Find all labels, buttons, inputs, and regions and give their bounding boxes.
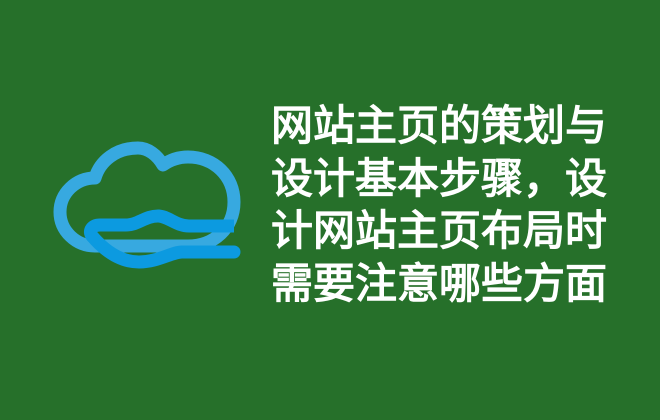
cloud-hand-icon	[38, 128, 248, 293]
cloud-hand-icon-graphic	[38, 128, 248, 293]
hand-thumb	[90, 216, 158, 236]
page-title: 网站主页的策划与设计基本步骤，设计网站主页布局时需要注意哪些方面	[271, 100, 616, 310]
hand-upper-arm	[158, 216, 234, 226]
title-block: 网站主页的策划与设计基本步骤，设计网站主页布局时需要注意哪些方面	[271, 100, 616, 310]
article-thumbnail-card: 网站主页的策划与设计基本步骤，设计网站主页布局时需要注意哪些方面	[0, 0, 660, 420]
